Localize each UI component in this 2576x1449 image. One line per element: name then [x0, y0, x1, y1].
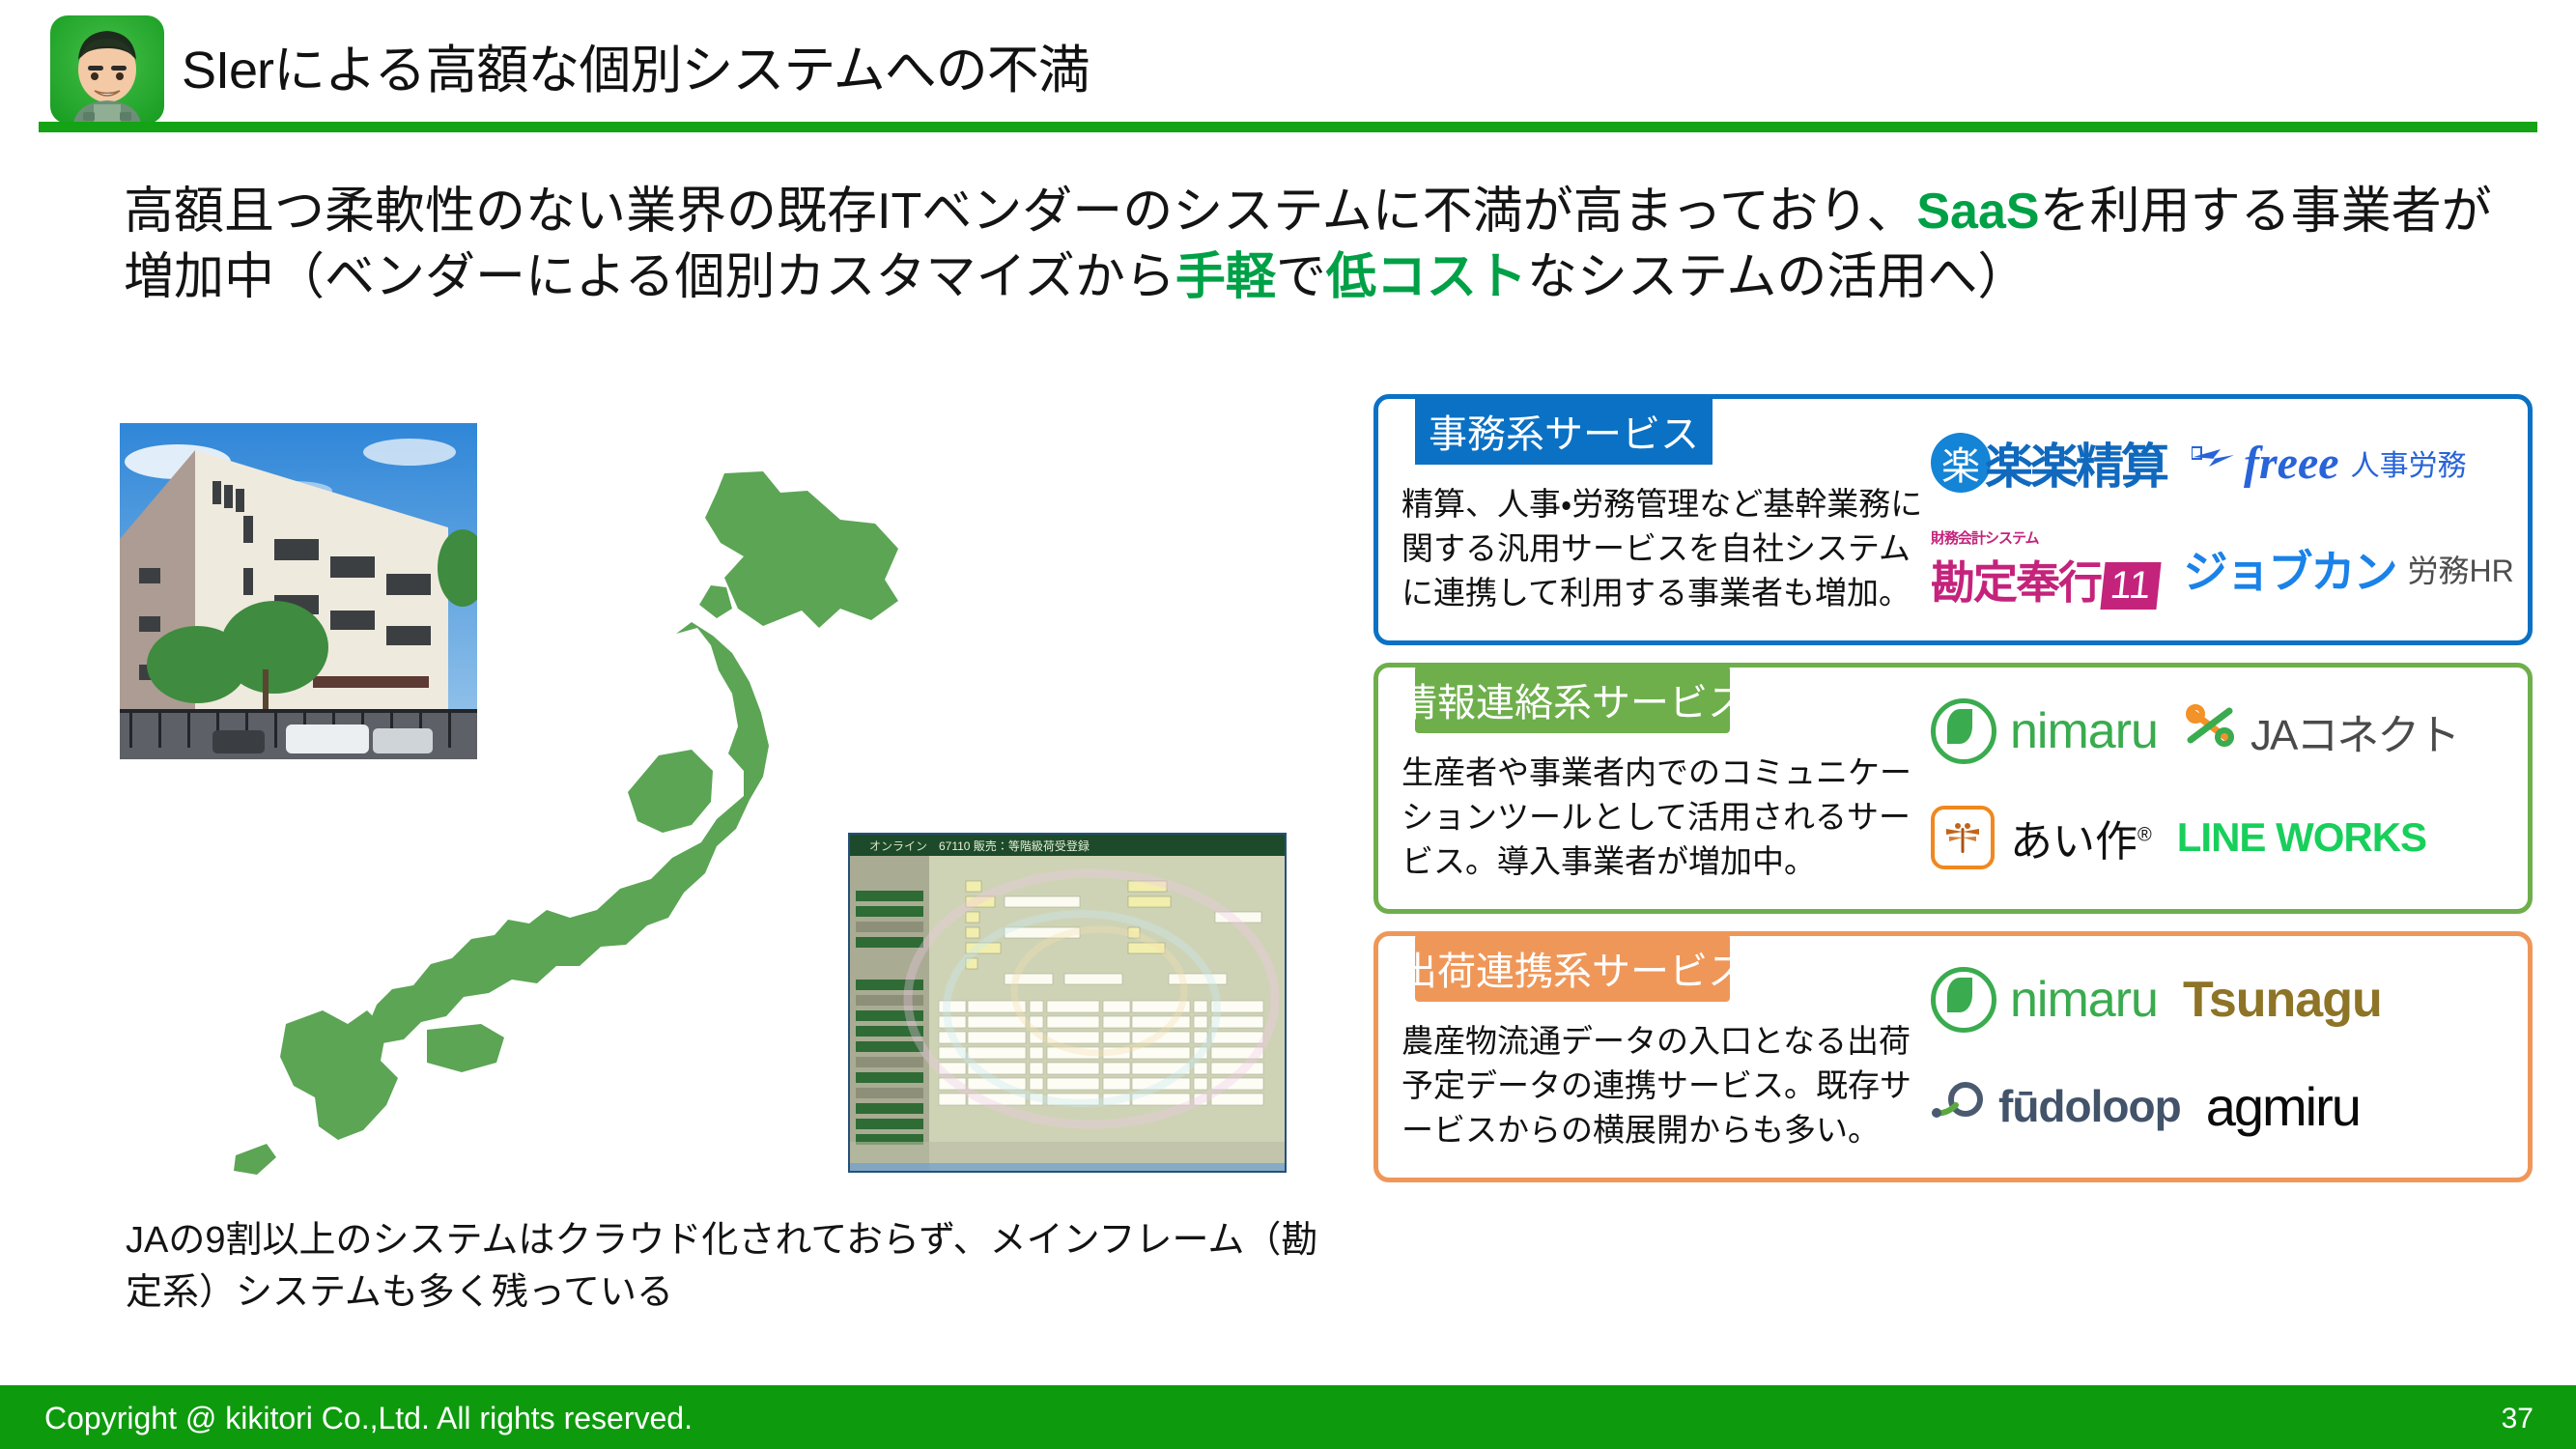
lead-line1-a: 高額且つ柔軟性のない業界の既存ITベンダーのシステムに不満が高まっており、 — [124, 184, 1916, 240]
farmer-avatar-icon — [50, 15, 164, 124]
page-title: SIerによる高額な個別システムへの不満 — [182, 27, 1090, 103]
aisaku-label: あい作® — [2010, 807, 2152, 868]
logo-nimaru: nimaru — [1931, 698, 2158, 764]
aisaku-registered-mark: ® — [2137, 824, 2152, 845]
service-logos-communication: nimaru JAコネクト — [1931, 675, 2510, 899]
service-card-office: 事務系サービス 精算、人事・労務管理など基幹業務に関する汎用サービスを自社システ… — [1373, 394, 2533, 645]
service-logos-shipping: nimaru Tsunagu fūdoloop agmiru — [1931, 944, 2510, 1168]
line-works-label: LINE WORKS — [2177, 814, 2426, 861]
service-description-shipping: 農産物流通データの入口となる出荷予定データの連携サービス。既存サービスからの横展… — [1401, 1019, 1923, 1153]
lead-accent-tegaru: 手軽 — [1175, 249, 1276, 305]
logo-tsunagu: Tsunagu — [2183, 971, 2382, 1029]
jobcan-sublabel: 労務HR — [2408, 547, 2514, 591]
slide-header: SIerによる高額な個別システムへの不満 — [0, 0, 2576, 135]
kanjo-bugyo-version: 11 — [2100, 562, 2161, 610]
lead-copy: 高額且つ柔軟性のない業界の既存ITベンダーのシステムに不満が高まっており、Saa… — [124, 180, 2500, 310]
nimaru-label: nimaru — [2010, 971, 2158, 1029]
logo-freee: freee 人事労務 — [2192, 437, 2467, 490]
nimaru-label: nimaru — [2010, 702, 2158, 760]
service-description-communication: 生産者や事業者内でのコミュニケーションツールとして活用されるサービス。導入事業者… — [1401, 751, 1923, 885]
service-description-office: 精算、人事・労務管理など基幹業務に関する汎用サービスを自社システムに連携して利用… — [1401, 482, 1923, 616]
nimaru-leaf-circle-icon — [1931, 698, 1996, 764]
tsunagu-label: Tsunagu — [2183, 971, 2382, 1029]
slide-footer: Copyright @ kikitori Co.,Ltd. All rights… — [0, 1385, 2576, 1449]
logo-row: nimaru Tsunagu — [1931, 952, 2510, 1048]
ja-connect-infinity-knot-icon — [2183, 701, 2237, 762]
logo-row: あい作® LINE WORKS — [1931, 789, 2510, 886]
freee-sublabel: 人事労務 — [2351, 441, 2467, 484]
svg-text:67110 販売：等階級荷受登録: 67110 販売：等階級荷受登録 — [939, 838, 1090, 853]
logo-row: nimaru JAコネクト — [1931, 683, 2510, 780]
logo-kanjo-bugyo: 財務会計システム 勘定奉行11 — [1931, 527, 2159, 611]
agmiru-label: agmiru — [2206, 1075, 2360, 1138]
lead-line2-c: なシステムの活用へ） — [1527, 249, 2027, 305]
aisaku-name: あい作 — [2010, 818, 2137, 866]
jobcan-label: ジョブカン — [2184, 537, 2396, 601]
freee-label: freee — [2244, 437, 2339, 490]
logo-row: fūdoloop agmiru — [1931, 1058, 2510, 1154]
rakuraku-badge-icon: 楽 — [1931, 433, 1991, 493]
logo-rakuraku-seisan: 楽 楽楽精算 — [1931, 428, 2166, 497]
lead-line2-b: で — [1276, 249, 1326, 305]
fudoloop-label: fūdoloop — [1998, 1080, 2181, 1132]
service-card-communication: 情報連絡系サービス 生産者や事業者内でのコミュニケーションツールとして活用される… — [1373, 663, 2533, 914]
kanjo-bugyo-tagline: 財務会計システム — [1931, 530, 2039, 547]
ja-connect-label: JAコネクト — [2250, 700, 2458, 762]
service-logos-office: 楽 楽楽精算 freee 人事労務 財務会計システム 勘定奉行11 — [1931, 407, 2510, 631]
lead-line1-b: を利用する事業者が — [2040, 184, 2492, 240]
left-caption: JAの9割以上のシステムはクラウド化されておらず、メインフレーム（勘定系）システ… — [126, 1215, 1343, 1320]
header-divider — [39, 122, 2537, 132]
service-chip-shipping: 出荷連携系サービス — [1415, 934, 1730, 1002]
logo-row: 財務会計システム 勘定奉行11 ジョブカン 労務HR — [1931, 521, 2510, 617]
footer-copyright: Copyright @ kikitori Co.,Ltd. All rights… — [44, 1401, 693, 1436]
svg-text:オンライン: オンライン — [869, 839, 927, 853]
nimaru-leaf-circle-icon — [1931, 967, 1996, 1033]
legacy-terminal-photo: オンライン 67110 販売：等階級荷受登録 — [848, 833, 1287, 1173]
freee-bird-icon — [2192, 439, 2236, 487]
lead-accent-lowcost: 低コスト — [1326, 249, 1527, 305]
logo-agmiru: agmiru — [2206, 1075, 2360, 1138]
logo-line-works: LINE WORKS — [2177, 814, 2426, 861]
service-chip-communication: 情報連絡系サービス — [1415, 666, 1730, 733]
logo-jobcan: ジョブカン 労務HR — [2184, 537, 2514, 601]
logo-nimaru: nimaru — [1931, 967, 2158, 1033]
logo-row: 楽 楽楽精算 freee 人事労務 — [1931, 414, 2510, 511]
lead-accent-saas: SaaS — [1916, 184, 2039, 240]
service-chip-office: 事務系サービス — [1415, 397, 1713, 465]
rakuraku-label: 楽楽精算 — [1985, 428, 2166, 497]
kanjo-bugyo-label: 勘定奉行 — [1931, 557, 2101, 608]
aisaku-dragonfly-icon — [1931, 806, 1995, 869]
fudoloop-loop-icon — [1931, 1080, 1987, 1133]
logo-fudoloop: fūdoloop — [1931, 1080, 2181, 1133]
footer-page-number: 37 — [2502, 1403, 2534, 1435]
service-card-shipping: 出荷連携系サービス 農産物流通データの入口となる出荷予定データの連携サービス。既… — [1373, 931, 2533, 1182]
lead-line2-a: 増加中（ベンダーによる個別カスタマイズから — [124, 249, 1175, 305]
logo-ja-connect: JAコネクト — [2183, 700, 2458, 762]
logo-aisaku: あい作® — [1931, 806, 2152, 869]
